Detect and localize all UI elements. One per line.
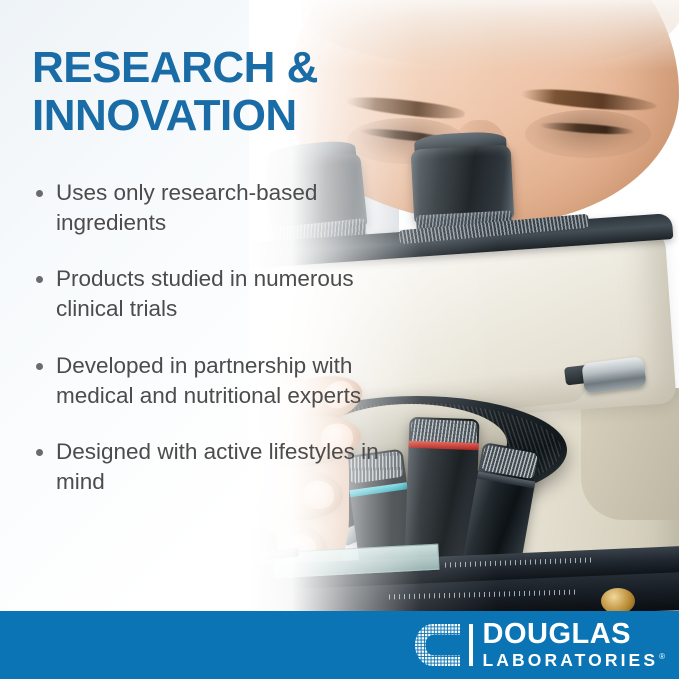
headline-line-1: RESEARCH & [32,44,392,92]
microscope-arm-notch [581,400,679,520]
logo-wordmark: DOUGLAS LABORATORIES ® [483,620,666,670]
brand-subtitle: LABORATORIES [483,652,659,670]
list-item: Developed in partnership with medical an… [30,351,394,411]
registered-trademark-icon: ® [659,653,665,661]
brand-logo: DOUGLAS LABORATORIES ® [415,619,666,671]
brand-name: DOUGLAS [483,620,666,649]
promo-card: RESEARCH & INNOVATION Uses only research… [0,0,679,679]
bullet-text: Designed with active lifestyles in mind [56,439,379,494]
bullet-text: Developed in partnership with medical an… [56,353,361,408]
list-item: Designed with active lifestyles in mind [30,437,394,497]
logo-divider-bar [469,624,473,666]
brand-sub-wrap: LABORATORIES ® [483,652,666,670]
stage-brass-fitting [601,588,635,612]
bullet-text: Uses only research-based ingredients [56,180,317,235]
feature-bullet-list: Uses only research-based ingredients Pro… [30,178,394,497]
right-eye-socket [525,110,651,158]
headline-line-2: INNOVATION [32,92,392,140]
list-item: Uses only research-based ingredients [30,178,394,238]
list-item: Products studied in numerous clinical tr… [30,264,394,324]
bullet-text: Products studied in numerous clinical tr… [56,266,354,321]
footer-bar: DOUGLAS LABORATORIES ® [0,611,679,679]
page-title: RESEARCH & INNOVATION [32,44,392,141]
douglas-grid-circle-logo-icon [415,624,461,666]
